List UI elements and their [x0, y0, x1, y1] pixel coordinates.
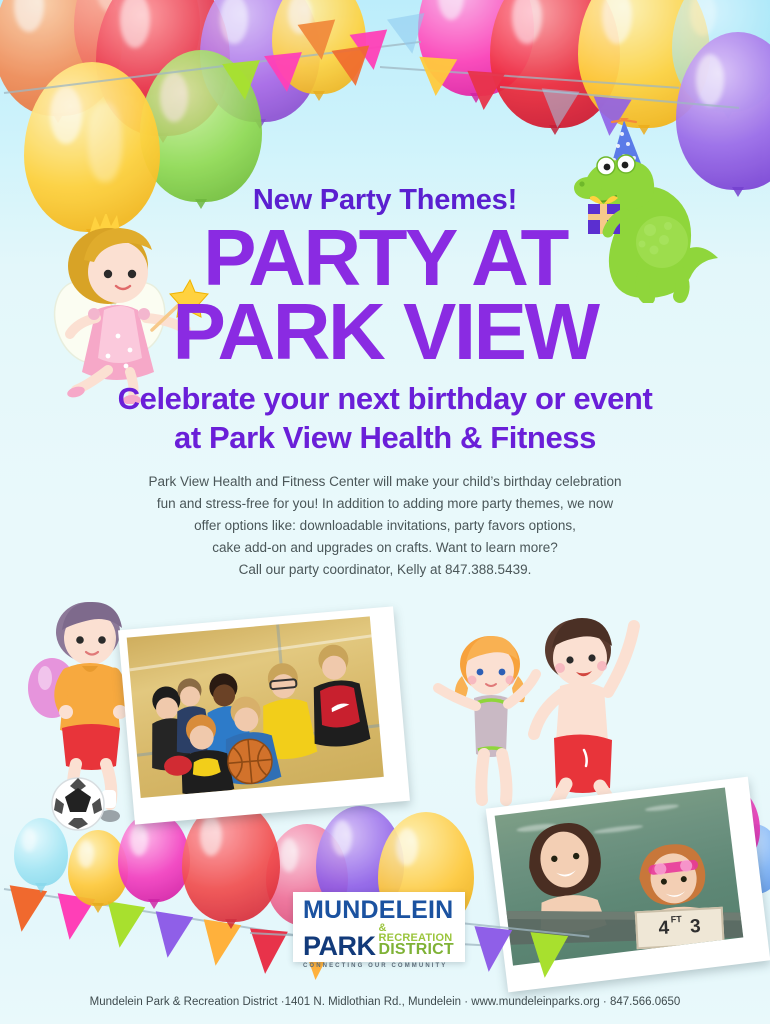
subheading: Celebrate your next birthday or event at… [0, 380, 770, 458]
gym-photo-image [127, 616, 384, 798]
logo-second-row: PARK & RECREATION DISTRICT [303, 923, 455, 960]
eyebrow-text: New Party Themes! [0, 186, 770, 215]
page-title: PARTY AT PARK VIEW [0, 221, 770, 370]
logo-district-text: DISTRICT [379, 943, 455, 958]
pennant-bottom-violet [149, 911, 193, 960]
hero-text-block: New Party Themes! PARTY AT PARK VIEW Cel… [0, 186, 770, 581]
body-line-1: Park View Health and Fitness Center will… [0, 471, 770, 493]
pennant-magenta-2 [264, 52, 306, 94]
title-line-2: PARK VIEW [0, 295, 770, 369]
pennant-orange-2 [332, 46, 375, 89]
pennant-blue [387, 13, 431, 57]
depth-number: 4 [658, 918, 670, 941]
mundelein-park-district-logo: MUNDELEIN PARK & RECREATION DISTRICT CON… [293, 892, 465, 962]
gym-photo [118, 606, 410, 824]
pennant-yellow [417, 57, 458, 98]
depth-next: 3 [690, 916, 702, 939]
logo-park-text: PARK [303, 934, 376, 960]
pennant-green [222, 60, 264, 102]
body-line-5: Call our party coordinator, Kelly at 847… [0, 559, 770, 581]
logo-tagline: CONNECTING OUR COMMUNITY [303, 963, 455, 969]
body-line-3: offer options like: downloadable invitat… [0, 515, 770, 537]
pennant-red [465, 71, 506, 112]
logo-recreation-district: & RECREATION DISTRICT [379, 923, 455, 960]
logo-mundelein-text: MUNDELEIN [303, 899, 455, 923]
depth-unit: FT [670, 914, 682, 925]
logo-recreation-text: & RECREATION [379, 923, 455, 943]
pennant-bottom-green-2 [526, 932, 568, 980]
body-line-4: cake add-on and upgrades on crafts. Want… [0, 537, 770, 559]
body-copy: Park View Health and Fitness Center will… [0, 471, 770, 580]
subheading-line-2: at Park View Health & Fitness [0, 419, 770, 458]
body-line-2: fun and stress-free for you! In addition… [0, 493, 770, 515]
pennant-bottom-violet-2 [470, 926, 512, 974]
pennant-bottom-green [101, 901, 145, 950]
footer-contact-line: Mundelein Park & Recreation District ·14… [0, 996, 770, 1008]
subheading-line-1: Celebrate your next birthday or event [118, 381, 653, 416]
pool-depth-marker: 4 FT 3 [635, 907, 725, 950]
flyer-canvas: New Party Themes! PARTY AT PARK VIEW Cel… [0, 0, 770, 1024]
